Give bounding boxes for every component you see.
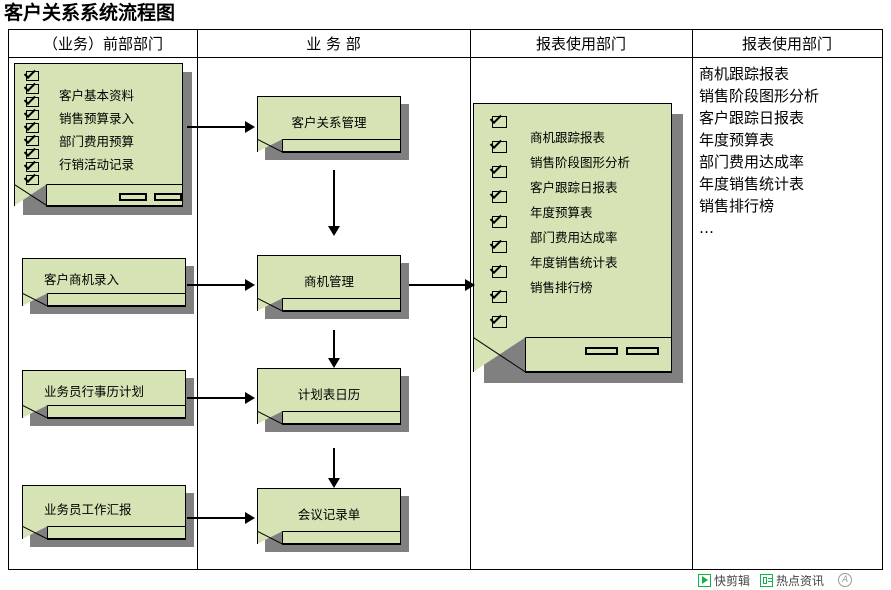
list-item: 部门费用预算 bbox=[59, 131, 134, 150]
mini-button[interactable] bbox=[585, 347, 618, 355]
arrow-connector bbox=[333, 330, 335, 358]
column-divider-1 bbox=[197, 30, 198, 569]
mini-button[interactable] bbox=[626, 347, 659, 355]
checkbox-icon[interactable] bbox=[492, 316, 507, 328]
checkbox-icon[interactable] bbox=[492, 241, 507, 253]
arrow-head-icon bbox=[328, 478, 340, 488]
column-header-report-dept-2: 报表使用部门 bbox=[692, 30, 882, 58]
news-icon bbox=[760, 574, 773, 587]
checkbox-column[interactable] bbox=[26, 71, 39, 188]
mini-button[interactable] bbox=[154, 193, 182, 201]
note-label: 业务员行事历计划 bbox=[44, 381, 144, 400]
checkbox-icon[interactable] bbox=[26, 175, 39, 185]
arrow-head-icon bbox=[465, 279, 475, 291]
list-item: 销售排行榜 bbox=[699, 195, 819, 217]
list-item: 年度预算表 bbox=[699, 129, 819, 151]
list-item: 客户基本资料 bbox=[59, 85, 134, 104]
list-item: 商机跟踪报表 bbox=[530, 127, 605, 146]
note-salesperson-calendar-plan[interactable]: 业务员行事历计划 bbox=[22, 370, 194, 426]
circle-a-icon[interactable]: A bbox=[838, 573, 852, 587]
play-clip-icon bbox=[698, 574, 711, 587]
list-item: 客户跟踪日报表 bbox=[530, 177, 618, 196]
checkbox-icon[interactable] bbox=[26, 71, 39, 81]
report-usage-list: 商机跟踪报表 销售阶段图形分析 客户跟踪日报表 年度预算表 部门费用达成率 年度… bbox=[699, 63, 819, 239]
arrow-head-icon bbox=[245, 279, 255, 291]
arrow-connector bbox=[409, 284, 465, 286]
toolbar-item-label: 快剪辑 bbox=[714, 572, 750, 589]
mini-button[interactable] bbox=[119, 193, 147, 201]
checkbox-column[interactable] bbox=[492, 116, 507, 341]
toolbar-item-label: 热点资讯 bbox=[776, 572, 824, 589]
document-customer-master-data[interactable]: 客户基本资料 销售预算录入 部门费用预算 行销活动记录 bbox=[14, 63, 192, 215]
process-schedule-calendar[interactable]: 计划表日历 bbox=[257, 368, 409, 432]
arrow-connector bbox=[187, 126, 245, 128]
arrow-head-icon bbox=[328, 358, 340, 368]
process-label: 会议记录单 bbox=[257, 504, 401, 523]
checkbox-icon[interactable] bbox=[492, 191, 507, 203]
note-label: 客户商机录入 bbox=[44, 269, 119, 288]
list-item: 客户跟踪日报表 bbox=[699, 107, 819, 129]
toolbar-item-quick-clip[interactable]: 快剪辑 bbox=[698, 572, 750, 589]
list-item-ellipsis: … bbox=[699, 217, 819, 239]
note-label: 业务员工作汇报 bbox=[44, 499, 132, 518]
document-report-list[interactable]: 商机跟踪报表 销售阶段图形分析 客户跟踪日报表 年度预算表 部门费用达成率 年度… bbox=[473, 103, 683, 383]
arrow-connector bbox=[333, 448, 335, 478]
arrow-connector bbox=[187, 284, 245, 286]
process-crm-management[interactable]: 客户关系管理 bbox=[257, 96, 409, 160]
arrow-head-icon bbox=[245, 121, 255, 133]
process-label: 计划表日历 bbox=[257, 384, 401, 403]
column-header-business-dept: 业 务 部 bbox=[197, 30, 470, 58]
bottom-toolbar[interactable]: 快剪辑 热点资讯 A bbox=[698, 571, 852, 589]
arrow-head-icon bbox=[328, 226, 340, 236]
list-item: 商机跟踪报表 bbox=[699, 63, 819, 85]
process-label: 客户关系管理 bbox=[257, 112, 401, 131]
toolbar-item-hot-news[interactable]: 热点资讯 bbox=[760, 572, 824, 589]
checkbox-icon[interactable] bbox=[492, 266, 507, 278]
checkbox-icon[interactable] bbox=[26, 123, 39, 133]
checkbox-icon[interactable] bbox=[26, 149, 39, 159]
list-item: 销售阶段图形分析 bbox=[530, 152, 630, 171]
column-divider-3 bbox=[692, 30, 693, 569]
list-item: 部门费用达成率 bbox=[530, 227, 618, 246]
arrow-connector bbox=[333, 170, 335, 226]
arrow-connector bbox=[187, 397, 245, 399]
list-item: 年度销售统计表 bbox=[530, 252, 618, 271]
process-opportunity-management[interactable]: 商机管理 bbox=[257, 255, 409, 319]
list-item: 销售预算录入 bbox=[59, 108, 134, 127]
list-item: 销售阶段图形分析 bbox=[699, 85, 819, 107]
checkbox-icon[interactable] bbox=[492, 116, 507, 128]
checkbox-icon[interactable] bbox=[492, 216, 507, 228]
checkbox-icon[interactable] bbox=[26, 97, 39, 107]
table-header-row: （业务）前部部门 业 务 部 报表使用部门 报表使用部门 bbox=[9, 30, 882, 58]
column-header-front-dept: （业务）前部部门 bbox=[9, 30, 197, 58]
column-header-report-dept-1: 报表使用部门 bbox=[470, 30, 692, 58]
checkbox-icon[interactable] bbox=[26, 110, 39, 120]
page-title: 客户关系系统流程图 bbox=[4, 0, 175, 26]
checkbox-icon[interactable] bbox=[492, 291, 507, 303]
list-item: 行销活动记录 bbox=[59, 154, 134, 173]
note-customer-opportunity-entry[interactable]: 客户商机录入 bbox=[22, 258, 194, 314]
list-item: 销售排行榜 bbox=[530, 277, 593, 296]
process-label: 商机管理 bbox=[257, 271, 401, 290]
checkbox-icon[interactable] bbox=[26, 162, 39, 172]
list-item: 年度预算表 bbox=[530, 202, 593, 221]
list-item: 部门费用达成率 bbox=[699, 151, 819, 173]
note-salesperson-work-report[interactable]: 业务员工作汇报 bbox=[22, 485, 194, 547]
flow-diagram-table: （业务）前部部门 业 务 部 报表使用部门 报表使用部门 客 bbox=[8, 29, 883, 570]
arrow-connector bbox=[187, 517, 245, 519]
checkbox-icon[interactable] bbox=[26, 84, 39, 94]
list-item: 年度销售统计表 bbox=[699, 173, 819, 195]
checkbox-icon[interactable] bbox=[492, 141, 507, 153]
checkbox-icon[interactable] bbox=[26, 136, 39, 146]
arrow-head-icon bbox=[245, 512, 255, 524]
arrow-head-icon bbox=[245, 392, 255, 404]
checkbox-icon[interactable] bbox=[492, 166, 507, 178]
column-divider-2 bbox=[470, 30, 471, 569]
process-meeting-record-sheet[interactable]: 会议记录单 bbox=[257, 488, 409, 552]
